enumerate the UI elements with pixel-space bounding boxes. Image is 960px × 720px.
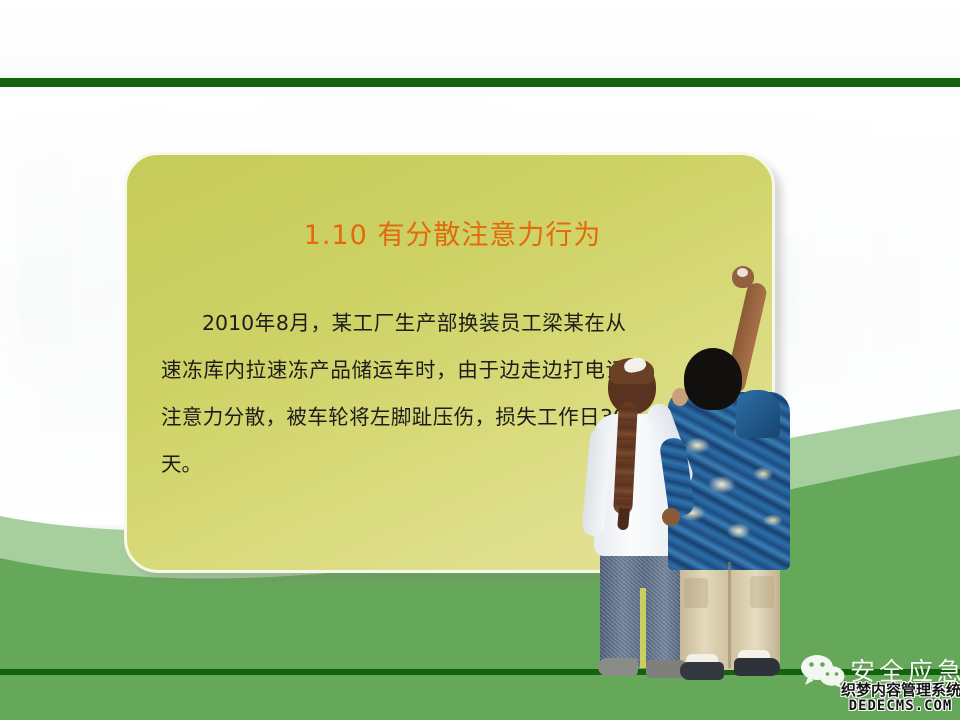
watermark-cn: 织梦内容管理系统	[841, 682, 960, 698]
watermark-en: DEDECMS.COM	[841, 698, 960, 715]
watermark: 织梦内容管理系统 DEDECMS.COM	[841, 682, 960, 715]
top-rule-glow	[0, 71, 960, 78]
page-title: 1.10 有分散注意力行为	[127, 213, 775, 252]
boy-in-blue-floral-shirt-figure	[674, 262, 806, 682]
boy-left-hand	[662, 508, 680, 526]
boy-pant-seam	[728, 562, 731, 668]
top-green-rule	[0, 78, 960, 87]
boy-shoulder	[736, 390, 780, 438]
boy-pocket-right	[750, 576, 774, 608]
boy-fist-highlight	[737, 268, 748, 277]
boy-right-shoe	[734, 658, 780, 676]
girl-leg-gap	[640, 588, 646, 668]
boy-head	[684, 348, 742, 410]
slide-canvas: 1.10 有分散注意力行为 2010年8月，某工厂生产部换装员工梁某在从速冻库内…	[0, 0, 960, 720]
wechat-icon	[800, 654, 846, 688]
children-photo-cutout	[588, 262, 820, 682]
girl-left-shoe	[598, 658, 638, 676]
boy-left-shoe	[680, 662, 724, 680]
boy-pocket-left	[684, 578, 708, 608]
body-paragraph: 2010年8月，某工厂生产部换装员工梁某在从速冻库内拉速冻产品储运车时，由于边走…	[161, 300, 626, 488]
